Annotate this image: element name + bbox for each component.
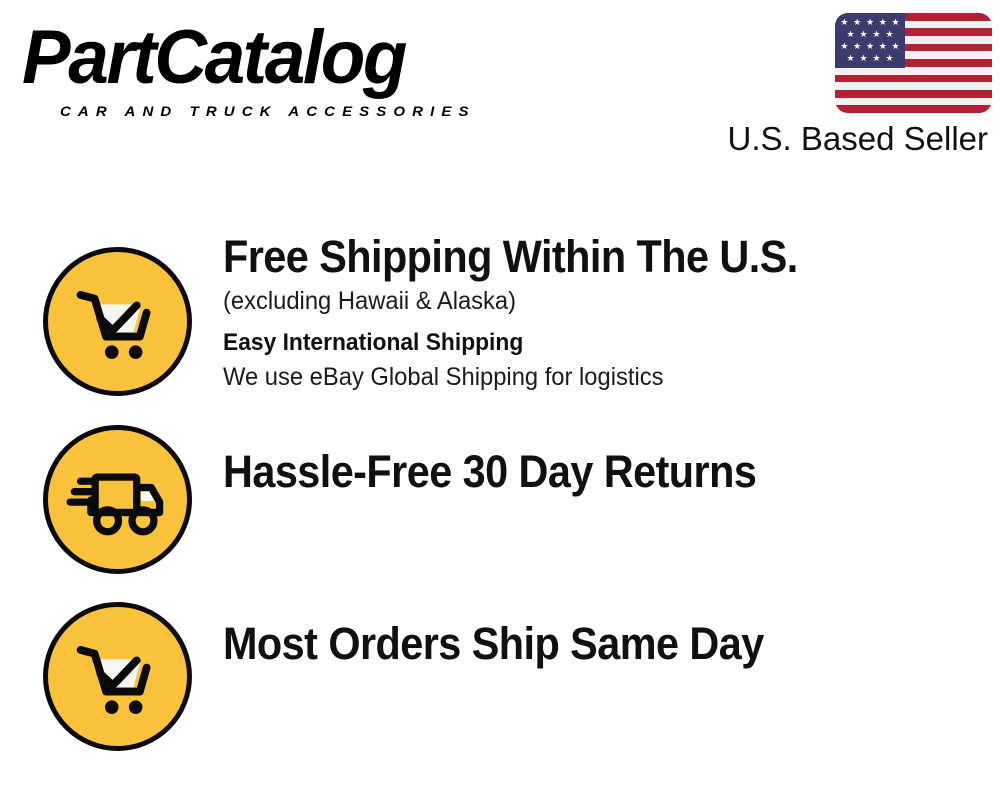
flag-stripe (835, 82, 992, 90)
brand-tagline: CAR AND TRUCK ACCESSORIES (60, 104, 476, 120)
brand-wordmark: PartCatalog (22, 18, 405, 98)
flag-star-icon: ★ (846, 30, 854, 39)
flag-star-row: ★ ★ ★ ★ (835, 29, 905, 40)
shopping-cart-check-icon (43, 602, 192, 751)
flag-stripe (835, 98, 992, 106)
feature-text-block: Free Shipping Within The U.S. (excluding… (223, 230, 980, 394)
brand-logo[interactable]: PartCatalog CAR AND TRUCK ACCESSORIES (22, 18, 492, 118)
flag-star-icon: ★ (840, 18, 848, 27)
flag-star-icon: ★ (859, 54, 867, 63)
feature-title: Most Orders Ship Same Day (223, 617, 919, 671)
list-item: Most Orders Ship Same Day (0, 585, 1000, 757)
delivery-truck-icon (43, 425, 192, 574)
flag-star-icon: ★ (866, 18, 874, 27)
flag-stripe (835, 105, 992, 113)
feature-sub-detail: We use eBay Global Shipping for logistic… (223, 360, 942, 394)
flag-star-icon: ★ (879, 42, 887, 51)
flag-star-icon: ★ (846, 54, 854, 63)
flag-star-icon: ★ (872, 30, 880, 39)
flag-stripe (835, 75, 992, 83)
flag-star-icon: ★ (866, 42, 874, 51)
feature-text-block: Most Orders Ship Same Day (223, 617, 980, 671)
feature-sub-heading: Easy International Shipping (223, 326, 942, 360)
flag-star-icon: ★ (892, 18, 900, 27)
feature-text-block: Hassle-Free 30 Day Returns (223, 445, 980, 499)
page-header: PartCatalog CAR AND TRUCK ACCESSORIES ★ … (0, 0, 1000, 170)
flag-star-icon: ★ (885, 30, 893, 39)
flag-star-icon: ★ (853, 18, 861, 27)
flag-star-icon: ★ (853, 42, 861, 51)
flag-star-row: ★ ★ ★ ★ ★ (835, 41, 905, 52)
shopping-cart-check-icon (43, 247, 192, 396)
list-item: Hassle-Free 30 Day Returns (0, 410, 1000, 582)
feature-subtitle: (excluding Hawaii & Alaska) (223, 284, 942, 318)
feature-title: Hassle-Free 30 Day Returns (223, 445, 919, 499)
flag-star-icon: ★ (840, 42, 848, 51)
flag-canton: ★ ★ ★ ★ ★ ★ ★ ★ ★ ★ ★ ★ ★ ★ ★ ★ (835, 13, 905, 68)
flag-star-icon: ★ (892, 42, 900, 51)
flag-star-icon: ★ (872, 54, 880, 63)
flag-star-icon: ★ (859, 30, 867, 39)
flag-star-icon: ★ (885, 54, 893, 63)
flag-star-row: ★ ★ ★ ★ (835, 53, 905, 64)
flag-stripe (835, 90, 992, 98)
list-item: Free Shipping Within The U.S. (excluding… (0, 230, 1000, 406)
flag-star-icon: ★ (879, 18, 887, 27)
us-flag-icon: ★ ★ ★ ★ ★ ★ ★ ★ ★ ★ ★ ★ ★ ★ ★ ★ (835, 13, 992, 113)
feature-title: Free Shipping Within The U.S. (223, 230, 919, 284)
us-based-seller-label: U.S. Based Seller (588, 120, 988, 158)
flag-star-row: ★ ★ ★ ★ ★ (835, 17, 905, 28)
